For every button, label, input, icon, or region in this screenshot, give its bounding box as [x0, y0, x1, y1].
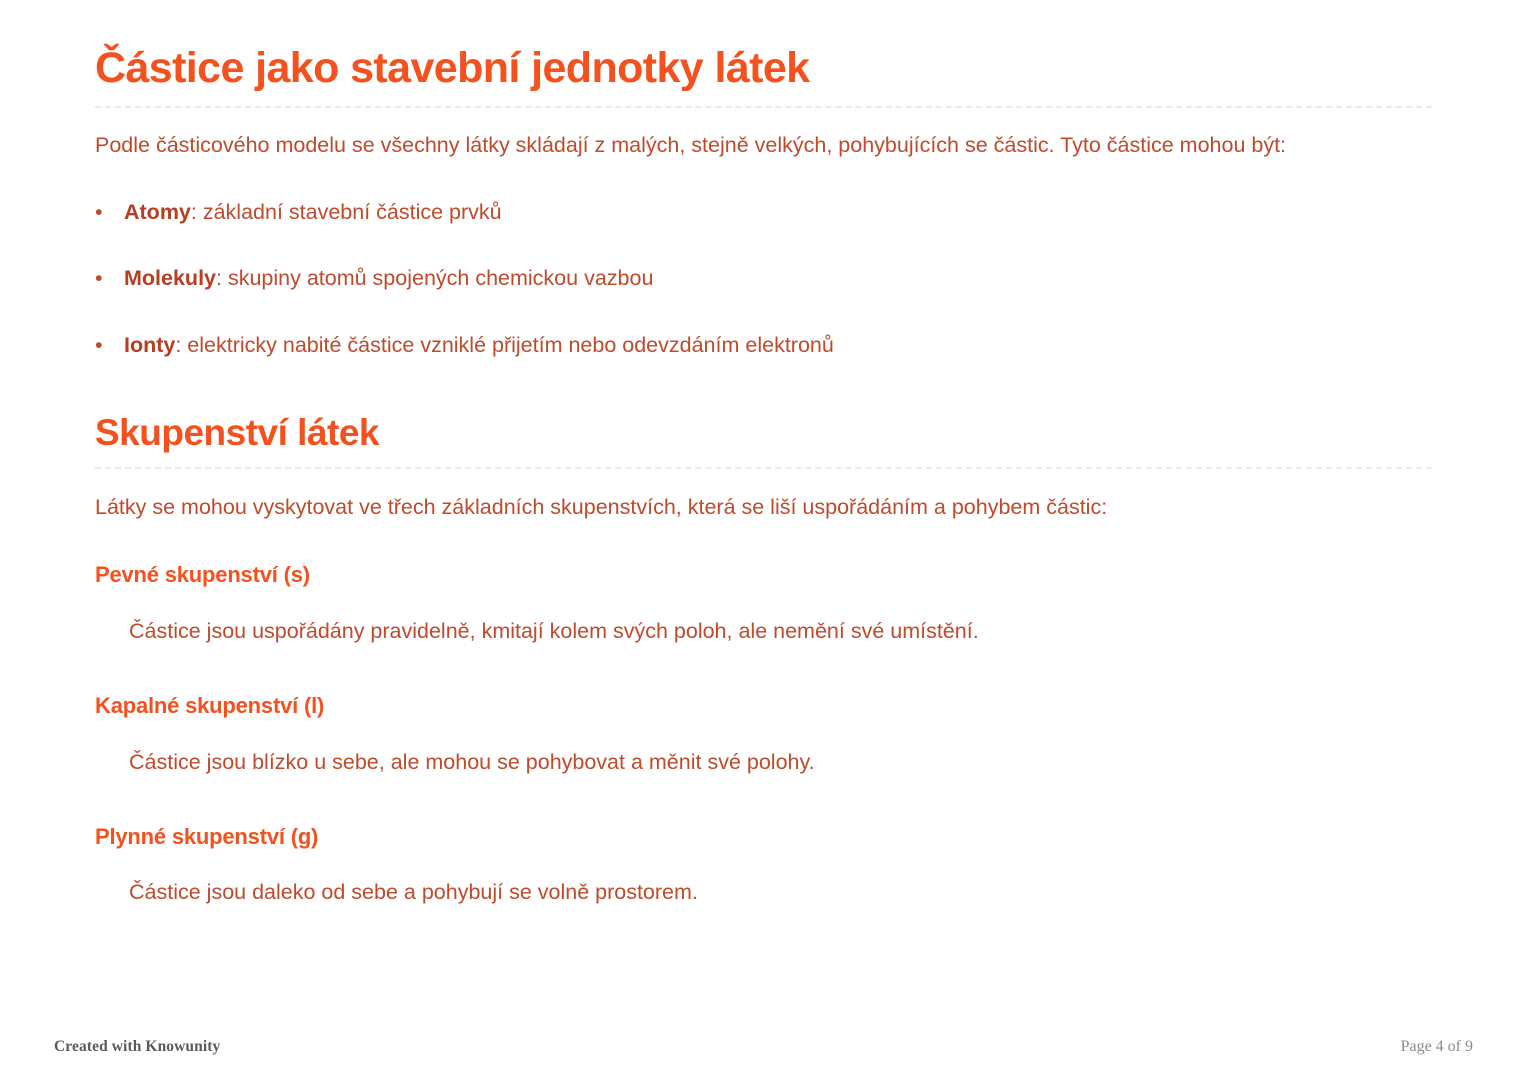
- subsection-title-liquid: Kapalné skupenství (l): [95, 646, 1432, 721]
- section-title-states-of-matter: Skupenství látek: [95, 360, 1432, 453]
- bullet-icon: •: [95, 330, 103, 360]
- footer-page-number: Page 4 of 9: [1401, 1038, 1473, 1056]
- list-item-term: Molekuly: [124, 266, 216, 290]
- list-item-term: Ionty: [124, 333, 175, 357]
- intro-paragraph: Podle částicového modelu se všechny látk…: [95, 108, 1432, 161]
- subsection-text-solid: Částice jsou uspořádány pravidelně, kmit…: [95, 590, 1432, 646]
- particle-types-list: •Atomy: základní stavební částice prvků …: [95, 197, 1432, 359]
- list-item: •Molekuly: skupiny atomů spojených chemi…: [95, 263, 1432, 293]
- page-footer: Created with Knowunity Page 4 of 9: [0, 1026, 1527, 1060]
- list-item-term: Atomy: [124, 200, 191, 224]
- bullet-icon: •: [95, 197, 103, 227]
- page-title: Částice jako stavební jednotky látek: [95, 0, 1432, 92]
- section-intro-paragraph: Látky se mohou vyskytovat ve třech zákla…: [95, 469, 1432, 523]
- bullet-icon: •: [95, 263, 103, 293]
- subsection-title-gas: Plynné skupenství (g): [95, 777, 1432, 852]
- list-item: •Ionty: elektricky nabité částice vznikl…: [95, 330, 1432, 360]
- subsection-text-gas: Částice jsou daleko od sebe a pohybují s…: [95, 851, 1432, 907]
- list-item-text: : skupiny atomů spojených chemickou vazb…: [216, 266, 653, 290]
- subsection-title-solid: Pevné skupenství (s): [95, 523, 1432, 590]
- list-item-text: : základní stavební částice prvků: [191, 200, 502, 224]
- subsection-text-liquid: Částice jsou blízko u sebe, ale mohou se…: [95, 721, 1432, 777]
- list-item: •Atomy: základní stavební částice prvků: [95, 197, 1432, 227]
- list-item-text: : elektricky nabité částice vzniklé přij…: [175, 333, 833, 357]
- footer-credit: Created with Knowunity: [54, 1038, 220, 1056]
- document-page: Částice jako stavební jednotky látek Pod…: [0, 0, 1527, 1080]
